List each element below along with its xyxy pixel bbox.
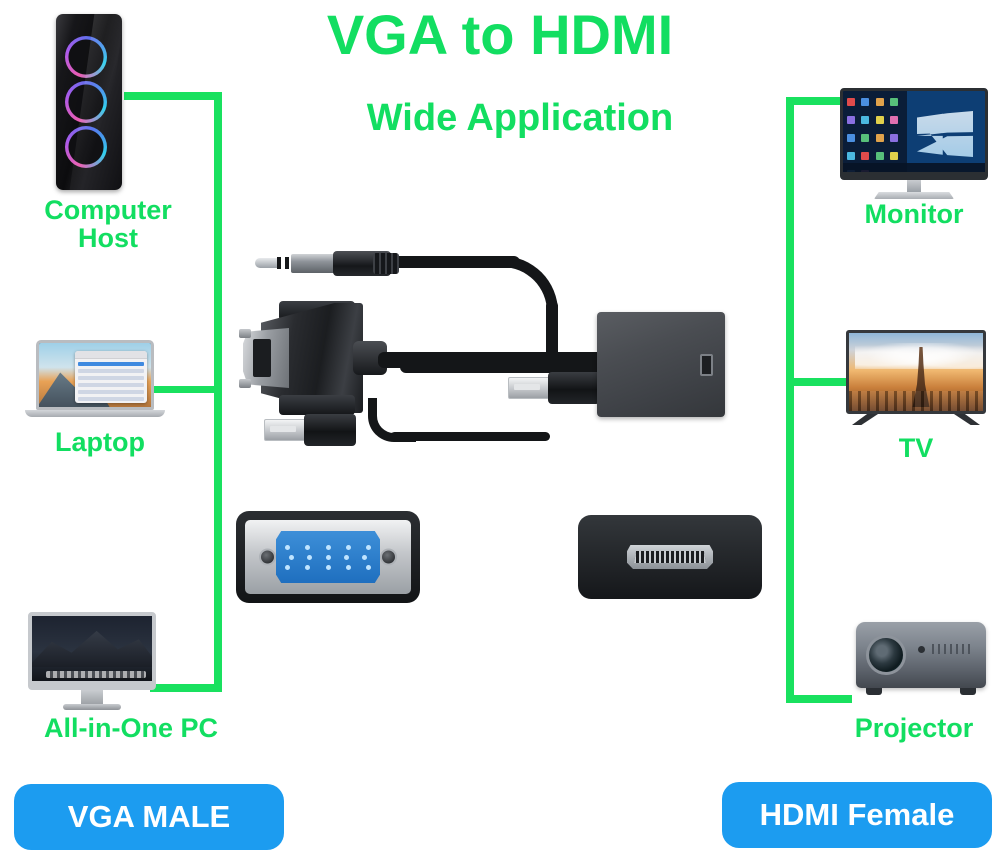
badge-hdmi-female: HDMI Female (722, 782, 992, 848)
pc-tower-case (56, 14, 122, 190)
usb-overmold (304, 414, 356, 446)
monitor-screen (840, 88, 988, 180)
badge-hdmi-female-label: HDMI Female (760, 797, 955, 833)
vga-pin-row (285, 545, 371, 550)
tile (876, 152, 884, 160)
main-signal-cable (378, 352, 610, 368)
label-projector: Projector (818, 714, 1000, 742)
tile (847, 152, 855, 160)
label-monitor: Monitor (818, 200, 1000, 228)
right-branch-projector (790, 695, 852, 703)
vga-pin (346, 545, 351, 550)
vga-pin (344, 555, 349, 560)
monitor-stand-neck (907, 180, 921, 192)
usb-power-plug-inline (508, 372, 604, 404)
vga-hood-bottom (279, 395, 355, 415)
label-laptop: Laptop (10, 428, 190, 456)
vga-thumbscrew (239, 379, 251, 388)
tile (876, 134, 884, 142)
device-all-in-one-pc (28, 612, 156, 710)
vga-pin (362, 555, 367, 560)
list-item (78, 376, 144, 380)
projector-sensor-icon (918, 646, 925, 653)
tile (890, 116, 898, 124)
tile (890, 152, 898, 160)
tv-picture-city (849, 391, 983, 411)
usb-power-plug-free-end (264, 414, 360, 446)
hdmi-port-contacts (634, 551, 706, 563)
device-pc-tower (56, 14, 122, 190)
hdmi-port-shell (627, 545, 713, 569)
tv-legs (846, 414, 986, 426)
vga-screw-hole (259, 549, 276, 566)
page-subtitle: Wide Application (260, 97, 780, 140)
left-branch-all-in-one (150, 684, 220, 692)
finder-window (75, 351, 147, 403)
tile (861, 116, 869, 124)
device-monitor (840, 88, 988, 199)
right-branch-tv (790, 378, 848, 386)
device-laptop (36, 340, 165, 417)
vga-pin (326, 565, 331, 570)
audio-jack-plug (255, 250, 395, 276)
tile (847, 134, 855, 142)
aio-stand-foot (63, 704, 121, 710)
left-branch-computer-host (124, 92, 219, 100)
vga-pin (305, 565, 310, 570)
vga-faceplate (245, 520, 411, 594)
vga-pin-row (285, 565, 371, 570)
tv-leg (852, 414, 878, 425)
device-projector (856, 622, 986, 696)
list-item (78, 369, 144, 373)
vga-pin (326, 555, 331, 560)
tile (890, 134, 898, 142)
jack-grip (373, 253, 399, 274)
projector-foot (866, 688, 882, 695)
laptop-screen (36, 340, 154, 410)
vga-male-plug (243, 303, 363, 413)
vga-pin (307, 555, 312, 560)
vga-pin (366, 545, 371, 550)
tile (890, 98, 898, 106)
vga-pin (326, 545, 331, 550)
list-item (78, 397, 144, 401)
label-all-in-one-pc: All-in-One PC (0, 714, 262, 742)
vga-pin (285, 565, 290, 570)
jack-ring (285, 257, 289, 269)
projector-feet (856, 688, 986, 696)
rgb-fan-icon (65, 81, 107, 123)
rgb-fan-icon (65, 36, 107, 78)
projector-vent (932, 644, 972, 654)
tv-leg (954, 414, 980, 425)
laptop-base (25, 410, 165, 417)
right-bus-vertical (786, 97, 794, 703)
aio-screen (28, 612, 156, 690)
jack-ring (277, 257, 281, 269)
tile (847, 116, 855, 124)
device-tv (846, 330, 986, 426)
projector-foot (960, 688, 976, 695)
projector-body (856, 622, 986, 688)
hdmi-port-icon (700, 354, 713, 376)
rgb-fan-icon (65, 126, 107, 168)
list-item (78, 383, 144, 387)
tile (876, 116, 884, 124)
label-tv: TV (846, 434, 986, 462)
macos-dock (46, 671, 146, 678)
vga-pin (289, 555, 294, 560)
adapter-body (597, 312, 725, 417)
vga-thumbscrew (239, 329, 251, 338)
badge-vga-male-label: VGA MALE (68, 799, 230, 835)
vga-pin-block (253, 339, 271, 377)
usb-metal-shell (508, 377, 550, 399)
badge-vga-male: VGA MALE (14, 784, 284, 850)
usb-metal-shell (264, 419, 306, 441)
vga-pin (305, 545, 310, 550)
vga-dsub-shell (276, 531, 380, 583)
projector-lens-icon (866, 635, 906, 675)
monitor-stand-foot (874, 192, 954, 199)
tile (847, 98, 855, 106)
jack-barrel (291, 254, 335, 273)
tile (861, 134, 869, 142)
hdmi-female-port-face (578, 515, 762, 599)
page-title: VGA to HDMI (0, 2, 1000, 67)
vga-pin-row (285, 555, 371, 560)
windows-taskbar (843, 163, 985, 172)
label-computer-host: Computer Host (10, 196, 206, 253)
tile (861, 98, 869, 106)
usb-cable-bend (368, 398, 416, 442)
vga-pin (366, 565, 371, 570)
usb-overmold (548, 372, 600, 404)
list-item (78, 390, 144, 394)
tile (876, 98, 884, 106)
tile (861, 152, 869, 160)
vga-screw-hole (380, 549, 397, 566)
infographic-canvas: VGA to HDMI Wide Application Computer Ho… (0, 0, 1000, 868)
window-titlebar (75, 351, 147, 359)
start-menu-panel (843, 91, 907, 172)
list-item (78, 362, 144, 366)
vga-female-port-face (236, 511, 420, 603)
vga-pin (346, 565, 351, 570)
tv-screen (846, 330, 986, 414)
aio-stand-neck (81, 690, 103, 704)
vga-pin (285, 545, 290, 550)
